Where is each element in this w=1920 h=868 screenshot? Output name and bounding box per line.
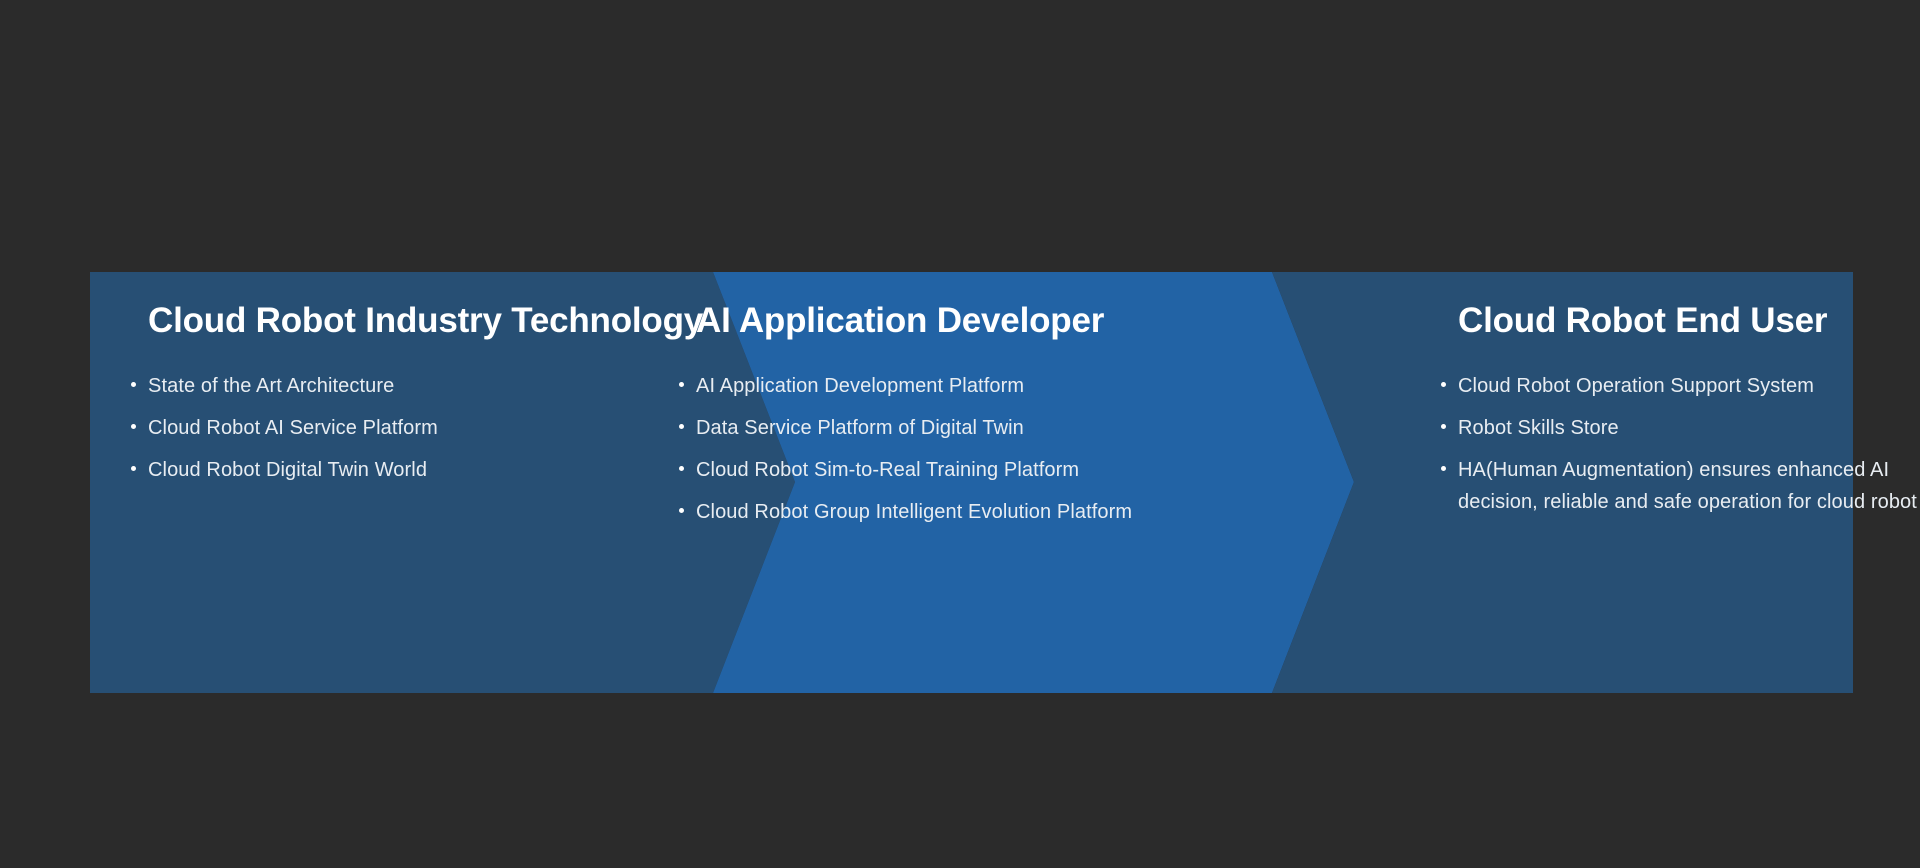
bullet-dot-icon	[679, 466, 684, 471]
list-item: HA(Human Augmentation) ensures enhanced …	[1440, 454, 1920, 518]
list-item-label: Cloud Robot Group Intelligent Evolution …	[696, 496, 1308, 528]
list-item: Cloud Robot Operation Support System	[1440, 370, 1920, 402]
list-item-label: State of the Art Architecture	[148, 370, 730, 402]
list-item-label: Cloud Robot Digital Twin World	[148, 454, 730, 486]
list-item: State of the Art Architecture	[130, 370, 730, 402]
segment-1-title: Cloud Robot Industry Technology	[148, 300, 703, 342]
segment-2-bullet-list: AI Application Development Platform Data…	[678, 370, 1308, 538]
bullet-dot-icon	[131, 382, 136, 387]
list-item-label: Cloud Robot Operation Support System	[1458, 370, 1920, 402]
list-item-label: AI Application Development Platform	[696, 370, 1308, 402]
list-item: Cloud Robot AI Service Platform	[130, 412, 730, 444]
bullet-dot-icon	[1441, 466, 1446, 471]
list-item: Robot Skills Store	[1440, 412, 1920, 444]
list-item: Cloud Robot Sim-to-Real Training Platfor…	[678, 454, 1308, 486]
bullet-dot-icon	[131, 466, 136, 471]
bullet-dot-icon	[679, 508, 684, 513]
chevron-segment-3[interactable]: Cloud Robot End User Cloud Robot Operati…	[1368, 272, 1853, 693]
segment-2-title: AI Application Developer	[696, 300, 1104, 342]
bullet-dot-icon	[1441, 382, 1446, 387]
chevron-process-banner: Cloud Robot Industry Technology State of…	[90, 272, 1853, 693]
list-item-label: Cloud Robot AI Service Platform	[148, 412, 730, 444]
list-item-label: Cloud Robot Sim-to-Real Training Platfor…	[696, 454, 1308, 486]
list-item: Cloud Robot Group Intelligent Evolution …	[678, 496, 1308, 528]
chevron-segment-2[interactable]: AI Application Developer AI Application …	[660, 272, 1320, 693]
list-item-label: Robot Skills Store	[1458, 412, 1920, 444]
segment-3-bullet-list: Cloud Robot Operation Support System Rob…	[1440, 370, 1920, 528]
bullet-dot-icon	[1441, 424, 1446, 429]
bullet-dot-icon	[679, 382, 684, 387]
list-item-label: HA(Human Augmentation) ensures enhanced …	[1458, 454, 1920, 518]
bullet-dot-icon	[131, 424, 136, 429]
segment-3-title: Cloud Robot End User	[1458, 300, 1827, 342]
list-item: Data Service Platform of Digital Twin	[678, 412, 1308, 444]
list-item: Cloud Robot Digital Twin World	[130, 454, 730, 486]
list-item-label: Data Service Platform of Digital Twin	[696, 412, 1308, 444]
slide-canvas: Cloud Robot Industry Technology State of…	[0, 0, 1920, 868]
list-item: AI Application Development Platform	[678, 370, 1308, 402]
bullet-dot-icon	[679, 424, 684, 429]
chevron-segment-1[interactable]: Cloud Robot Industry Technology State of…	[90, 272, 750, 693]
segment-1-bullet-list: State of the Art Architecture Cloud Robo…	[130, 370, 730, 496]
